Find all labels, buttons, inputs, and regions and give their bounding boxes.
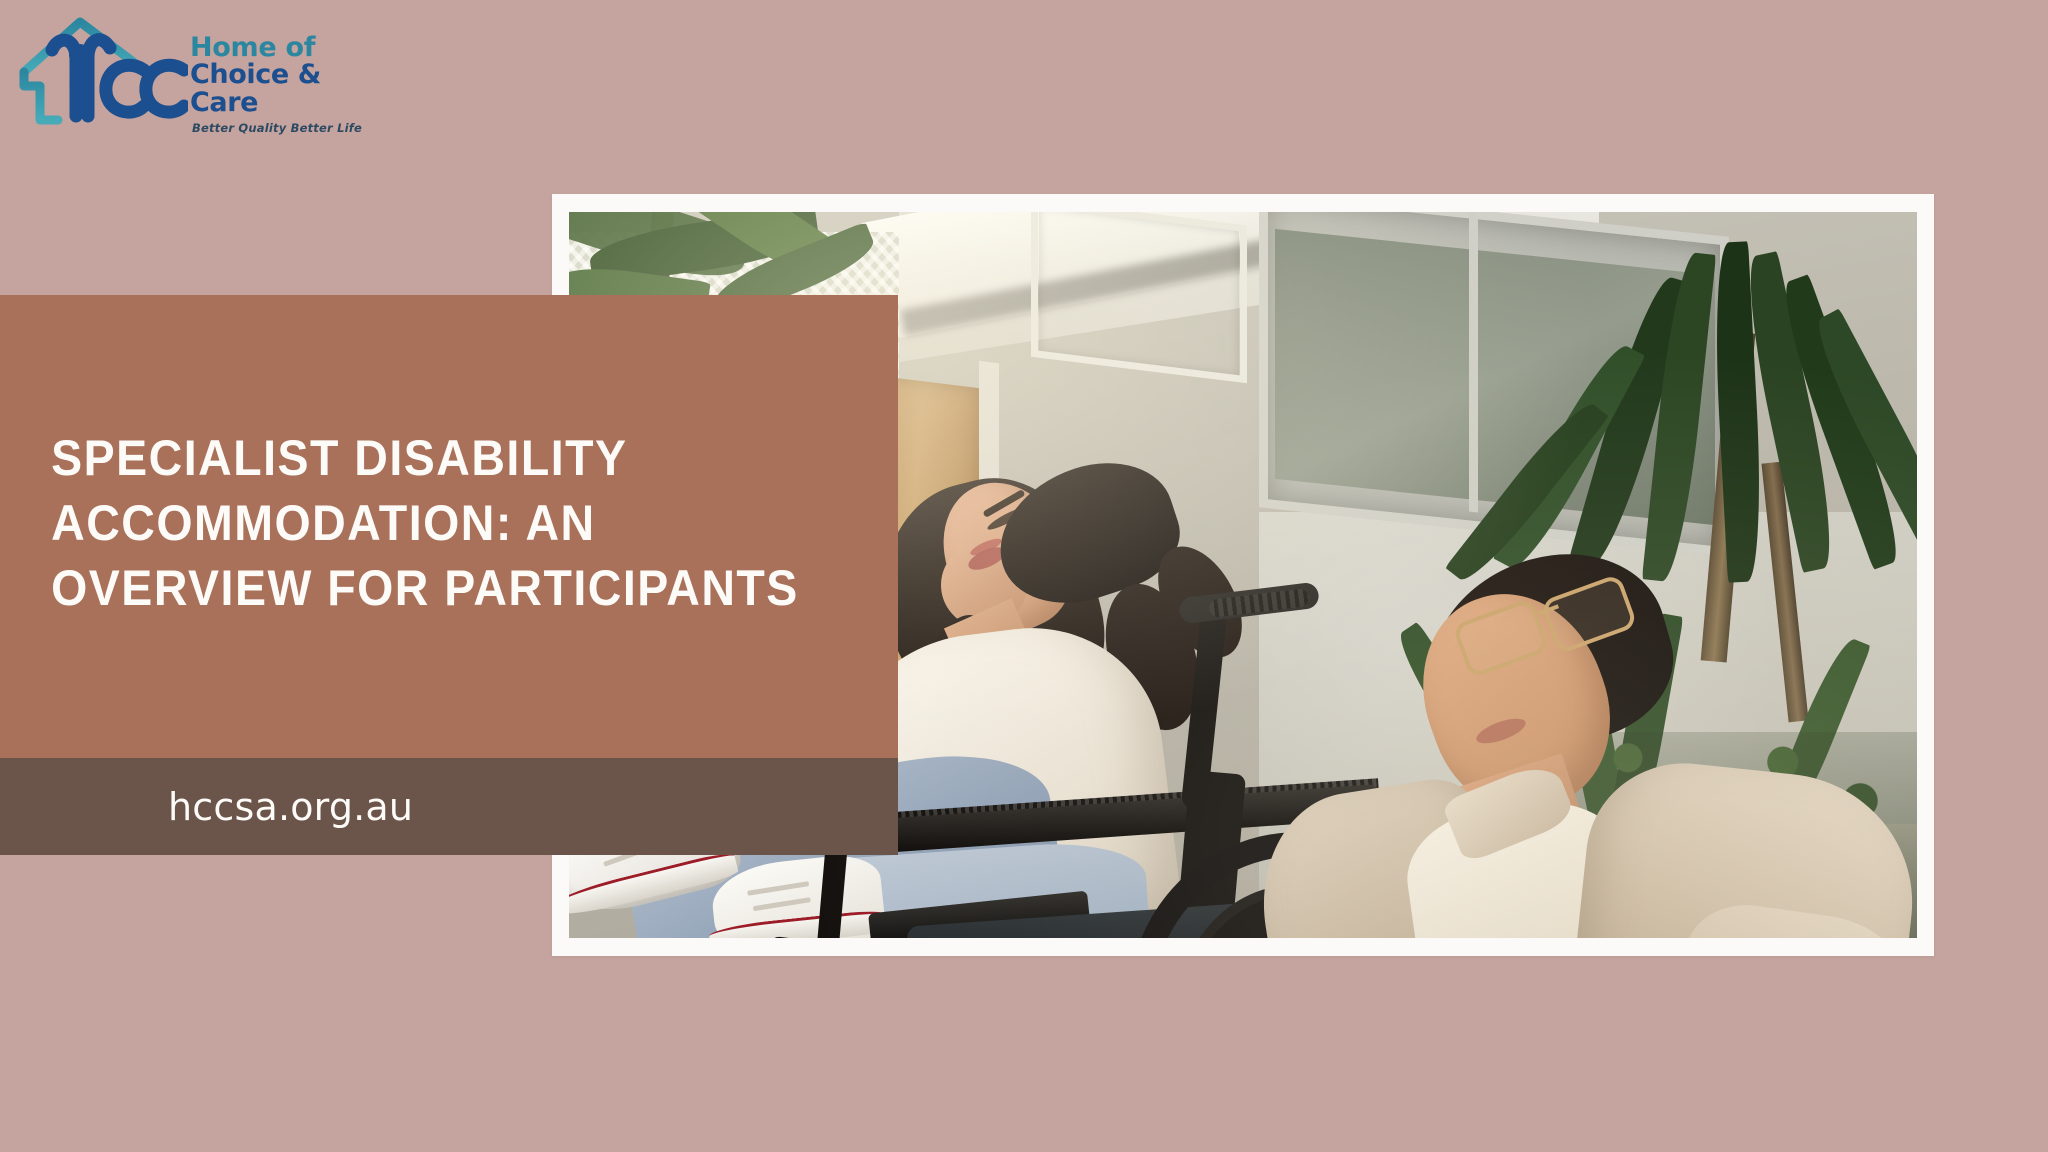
photo-window-mullion — [1469, 212, 1478, 512]
logo-line-2: Choice & Care — [190, 61, 390, 118]
logo-line-1: Home of — [190, 34, 390, 61]
logo-wordmark: Home of Choice & Care Better Quality Bet… — [190, 34, 390, 124]
photo-louvre-frame — [1031, 212, 1247, 383]
title-banner-block: SPECIALIST DISABILITY ACCOMMODATION: AN … — [0, 295, 898, 758]
logo-tagline: Better Quality Better Life — [192, 121, 390, 135]
url-banner-block[interactable]: hccsa.org.au — [0, 758, 898, 855]
website-url[interactable]: hccsa.org.au — [0, 785, 413, 829]
hcc-logo-mark — [18, 8, 188, 126]
page-title: SPECIALIST DISABILITY ACCOMMODATION: AN … — [0, 426, 835, 621]
site-logo[interactable]: Home of Choice & Care Better Quality Bet… — [18, 8, 378, 128]
